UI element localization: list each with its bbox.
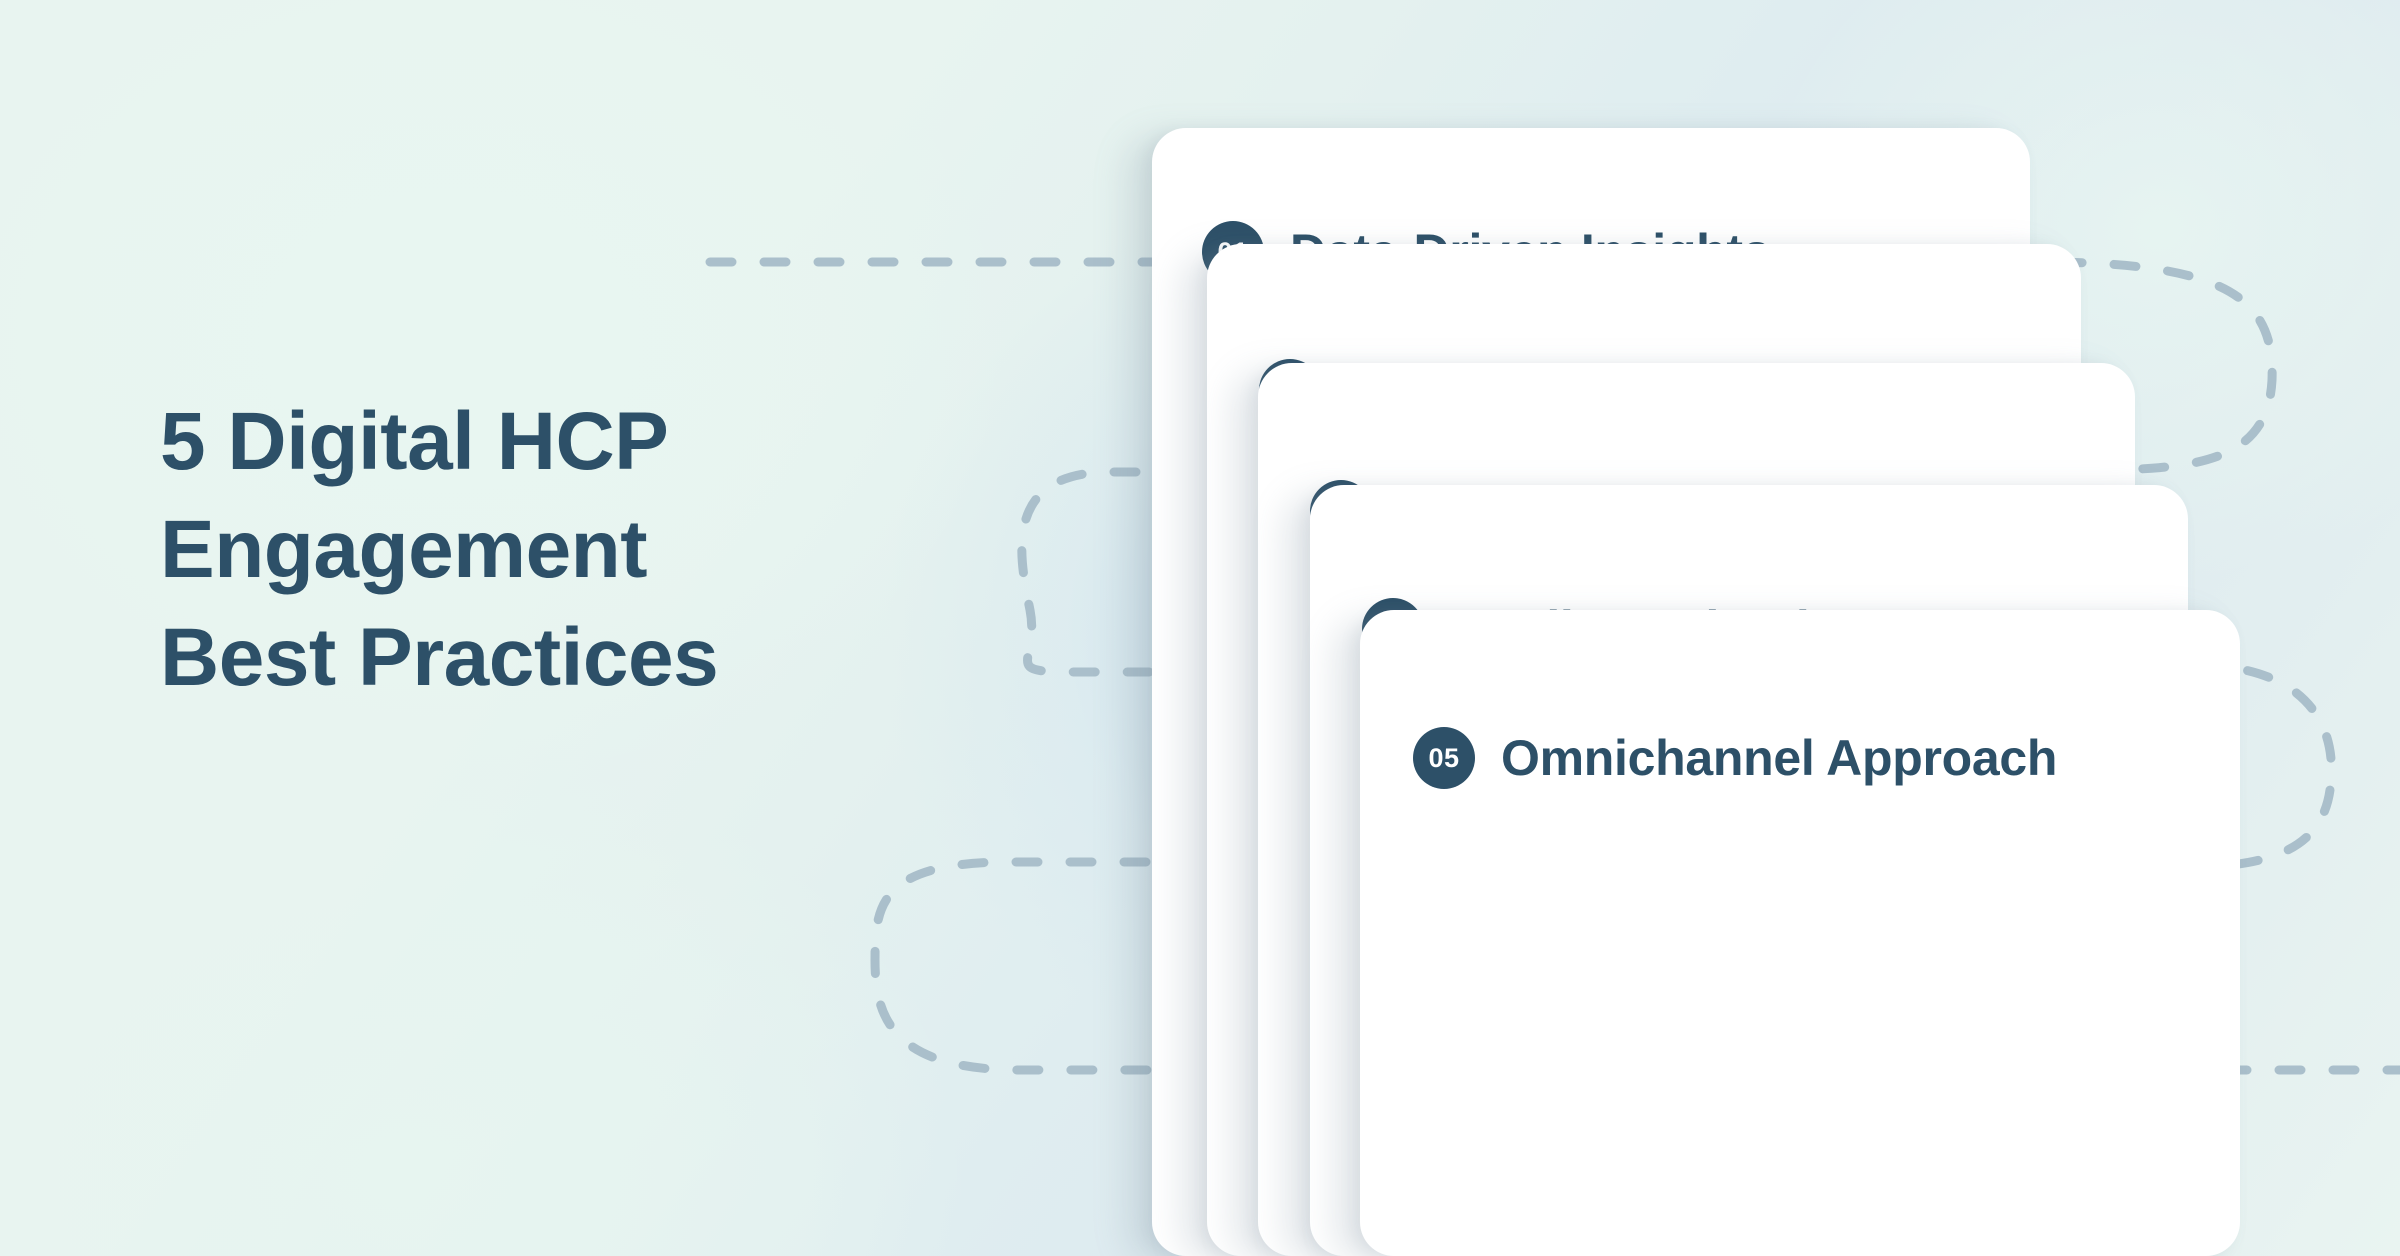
practice-title: Omnichannel Approach: [1501, 729, 2057, 787]
practice-card-05[interactable]: 05 Omnichannel Approach: [1360, 610, 2240, 1256]
practice-card-stack: 01 Data-Driven Insights 02 Specialized P…: [0, 0, 2400, 1256]
infographic-canvas: 5 Digital HCP Engagement Best Practices …: [0, 0, 2400, 1256]
number-badge-icon: 05: [1413, 727, 1475, 789]
practice-card-row: 05 Omnichannel Approach: [1413, 727, 2057, 789]
